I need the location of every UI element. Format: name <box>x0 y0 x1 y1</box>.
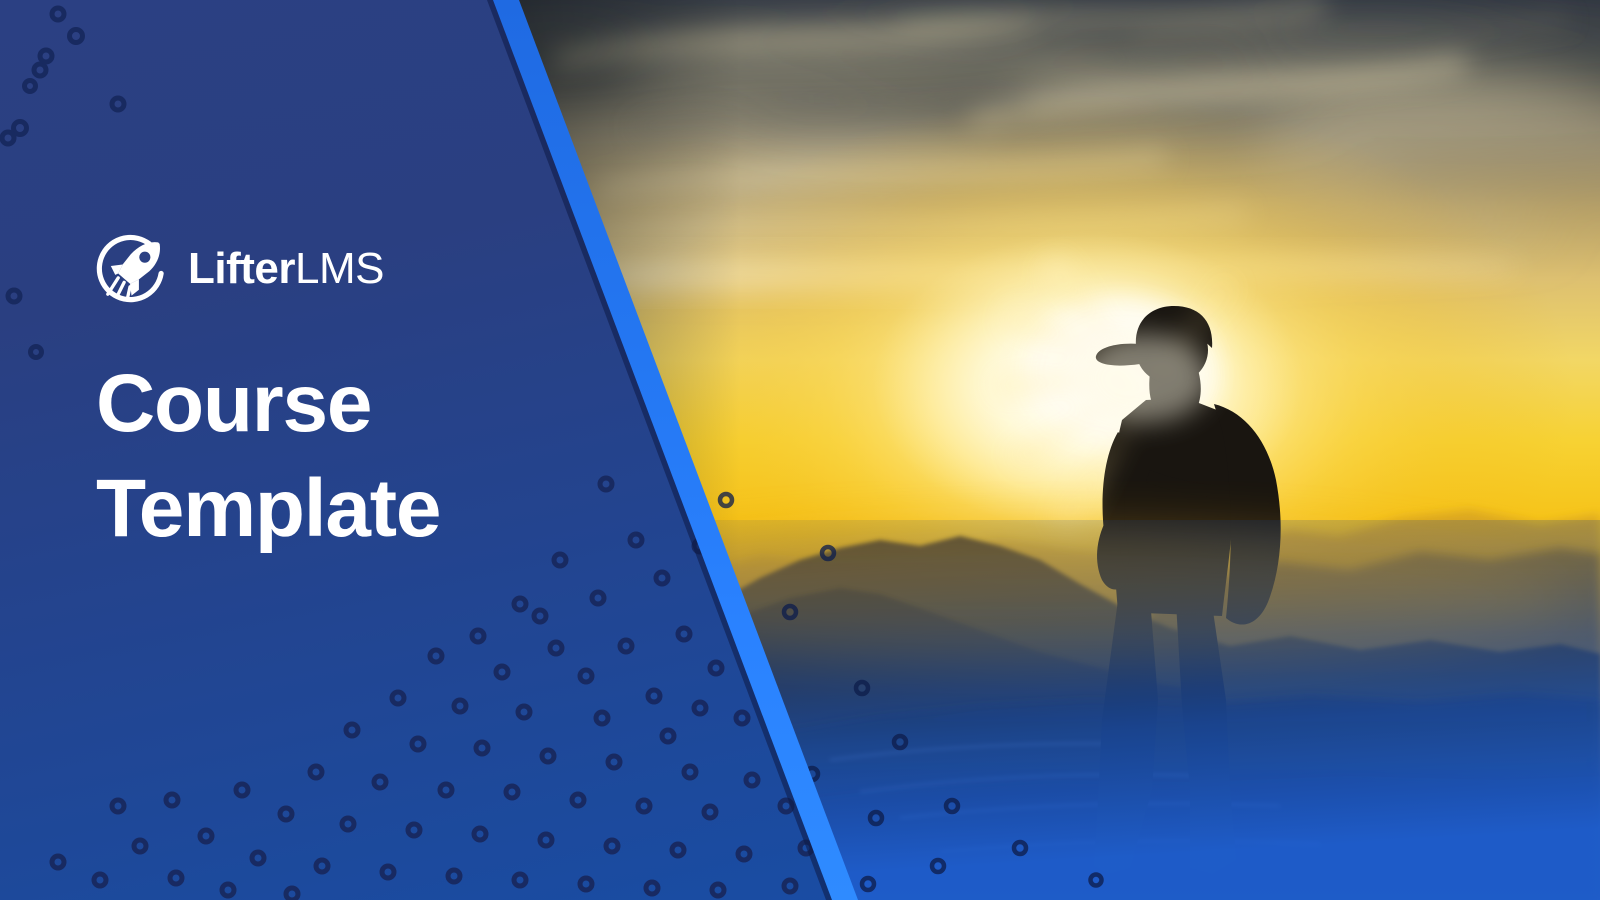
page-title-line-2: Template <box>96 457 526 562</box>
rocket-in-circle-icon <box>96 232 170 306</box>
brand-logo: LifterLMS <box>96 232 526 306</box>
page-title: Course Template <box>96 352 526 562</box>
wordmark-lms: LMS <box>295 244 384 293</box>
course-template-banner: LifterLMS Course Template <box>0 0 1600 900</box>
banner-content: LifterLMS Course Template <box>96 232 526 562</box>
page-title-line-1: Course <box>96 352 526 457</box>
brand-wordmark: LifterLMS <box>188 247 384 291</box>
wordmark-lifter: Lifter <box>188 244 295 293</box>
